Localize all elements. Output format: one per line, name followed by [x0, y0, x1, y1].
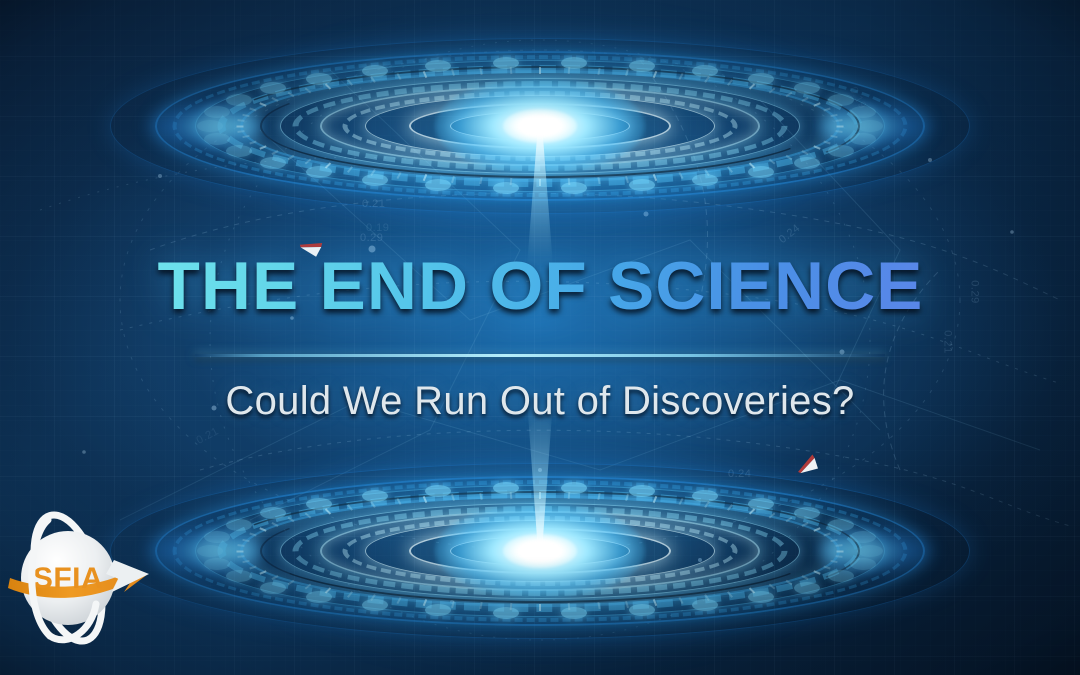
- title-divider: [195, 354, 885, 357]
- sfia-logo[interactable]: SFIA: [6, 500, 171, 660]
- title-block: THE END OF SCIENCE: [0, 252, 1080, 320]
- page-subtitle: Could We Run Out of Discoveries?: [0, 379, 1080, 424]
- logo-wordmark: SFIA: [33, 562, 103, 595]
- thumbnail-canvas: 0.210.190.290.240.290.210.240.210.19 THE…: [0, 0, 1080, 675]
- page-title: THE END OF SCIENCE: [157, 252, 923, 320]
